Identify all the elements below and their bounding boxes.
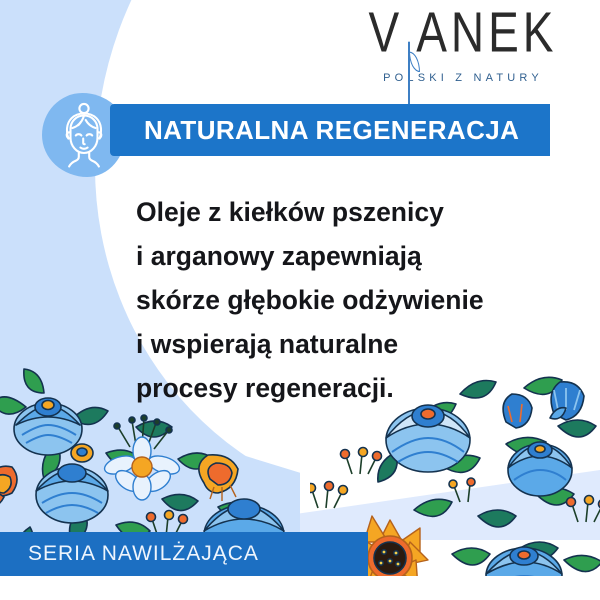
body-line-2-bold: i arganowy zapewniają (136, 241, 422, 271)
brand-logo-letter-v: V (369, 0, 404, 63)
promo-card: VANEK POLSKI Z NATURY (0, 0, 600, 600)
series-banner-text: SERIA NAWILŻAJĄCA (28, 542, 259, 566)
headline-banner-text: NATURALNA REGENERACJA (144, 115, 519, 146)
body-line-2: i arganowy zapewniają (136, 234, 566, 278)
woman-face-icon (54, 102, 114, 168)
body-line-4: i wspierają naturalne (136, 322, 566, 366)
headline-banner: NATURALNA REGENERACJA (110, 104, 550, 156)
brand-tagline: POLSKI Z NATURY (348, 72, 578, 84)
body-copy: Oleje z kiełków pszenicy i arganowy zape… (136, 190, 566, 410)
brand-logo: VANEK POLSKI Z NATURY (348, 14, 578, 84)
series-banner: SERIA NAWILŻAJĄCA (0, 532, 368, 576)
bottom-white-strip (0, 576, 600, 600)
body-line-5: procesy regeneracji. (136, 366, 566, 410)
body-line-1: Oleje z kiełków pszenicy (136, 190, 566, 234)
body-line-3: skórze głębokie odżywienie (136, 278, 566, 322)
brand-logo-wordmark: VANEK (369, 4, 558, 60)
brand-logo-letters-anek: ANEK (416, 0, 557, 63)
